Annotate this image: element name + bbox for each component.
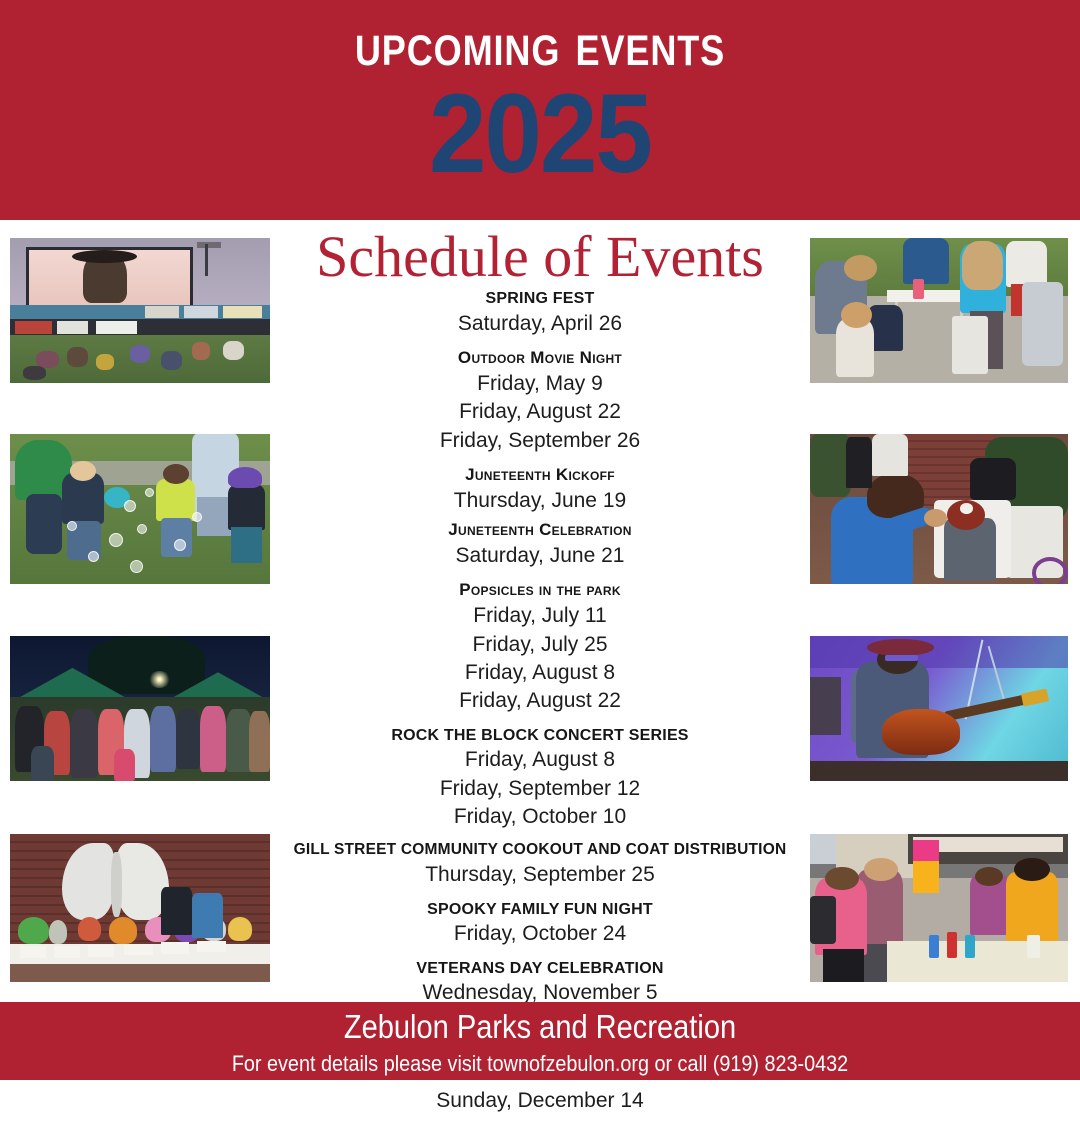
event-date: Saturday, June 21 xyxy=(240,542,840,570)
photo-face-painting xyxy=(810,434,1068,584)
spacer xyxy=(240,949,840,958)
photo-butterfly-art xyxy=(10,834,270,982)
event-date: Saturday, April 26 xyxy=(240,310,840,338)
event-date: Friday, August 8 xyxy=(240,659,840,687)
event-date: Friday, July 11 xyxy=(240,602,840,630)
event-date: Sunday, December 14 xyxy=(240,1087,840,1115)
photo-vendor-booth xyxy=(810,834,1068,982)
event-title: Juneteenth Celebration xyxy=(240,519,840,542)
photo-outdoor-movie-night xyxy=(10,238,270,383)
event-title: Outdoor Movie Night xyxy=(240,347,840,370)
photo-night-dance xyxy=(10,636,270,781)
event-date: Thursday, June 19 xyxy=(240,487,840,515)
spacer xyxy=(240,570,840,579)
spacer xyxy=(240,338,840,347)
event-date: Friday, August 22 xyxy=(240,687,840,715)
event-title: Veterans Day Celebration xyxy=(240,958,840,980)
event-date: Thursday, September 25 xyxy=(240,861,840,889)
photo-live-guitarist xyxy=(810,636,1068,781)
poster-header: Upcoming Events 2025 xyxy=(0,0,1080,220)
event-title: Popsicles in the park xyxy=(240,579,840,602)
photo-craft-table xyxy=(810,238,1068,383)
event-date: Friday, August 22 xyxy=(240,398,840,426)
schedule-heading: Schedule of Events xyxy=(270,228,810,286)
event-title: Rock the Block Concert Series xyxy=(240,725,840,747)
poster-footer: Zebulon Parks and Recreation For event d… xyxy=(0,1002,1080,1080)
event-date: Friday, October 24 xyxy=(240,920,840,948)
event-date: Friday, May 9 xyxy=(240,370,840,398)
spacer xyxy=(240,455,840,464)
event-date: Friday, August 8 xyxy=(240,746,840,774)
page-title: Upcoming Events xyxy=(86,12,993,77)
contact-details: For event details please visit townofzeb… xyxy=(54,1051,1026,1077)
photo-bubble-play xyxy=(10,434,270,584)
event-title: Gill Street Community Cookout and Coat D… xyxy=(240,840,840,861)
event-title: Spooky Family Fun Night xyxy=(240,899,840,921)
event-date: Friday, September 12 xyxy=(240,775,840,803)
event-poster: Upcoming Events 2025 xyxy=(0,0,1080,1080)
event-title: Spring Fest xyxy=(240,288,840,310)
spacer xyxy=(240,1115,840,1124)
spacer xyxy=(240,716,840,725)
year-label: 2025 xyxy=(43,78,1037,190)
event-date: Friday, October 10 xyxy=(240,803,840,831)
organization-name: Zebulon Parks and Recreation xyxy=(65,1008,1015,1046)
event-date: Friday, September 26 xyxy=(240,427,840,455)
event-title: Juneteenth Kickoff xyxy=(240,464,840,487)
spacer xyxy=(240,831,840,840)
event-date: Friday, July 25 xyxy=(240,631,840,659)
spacer xyxy=(240,890,840,899)
schedule-list: Spring FestSaturday, April 26Outdoor Mov… xyxy=(240,288,840,1124)
